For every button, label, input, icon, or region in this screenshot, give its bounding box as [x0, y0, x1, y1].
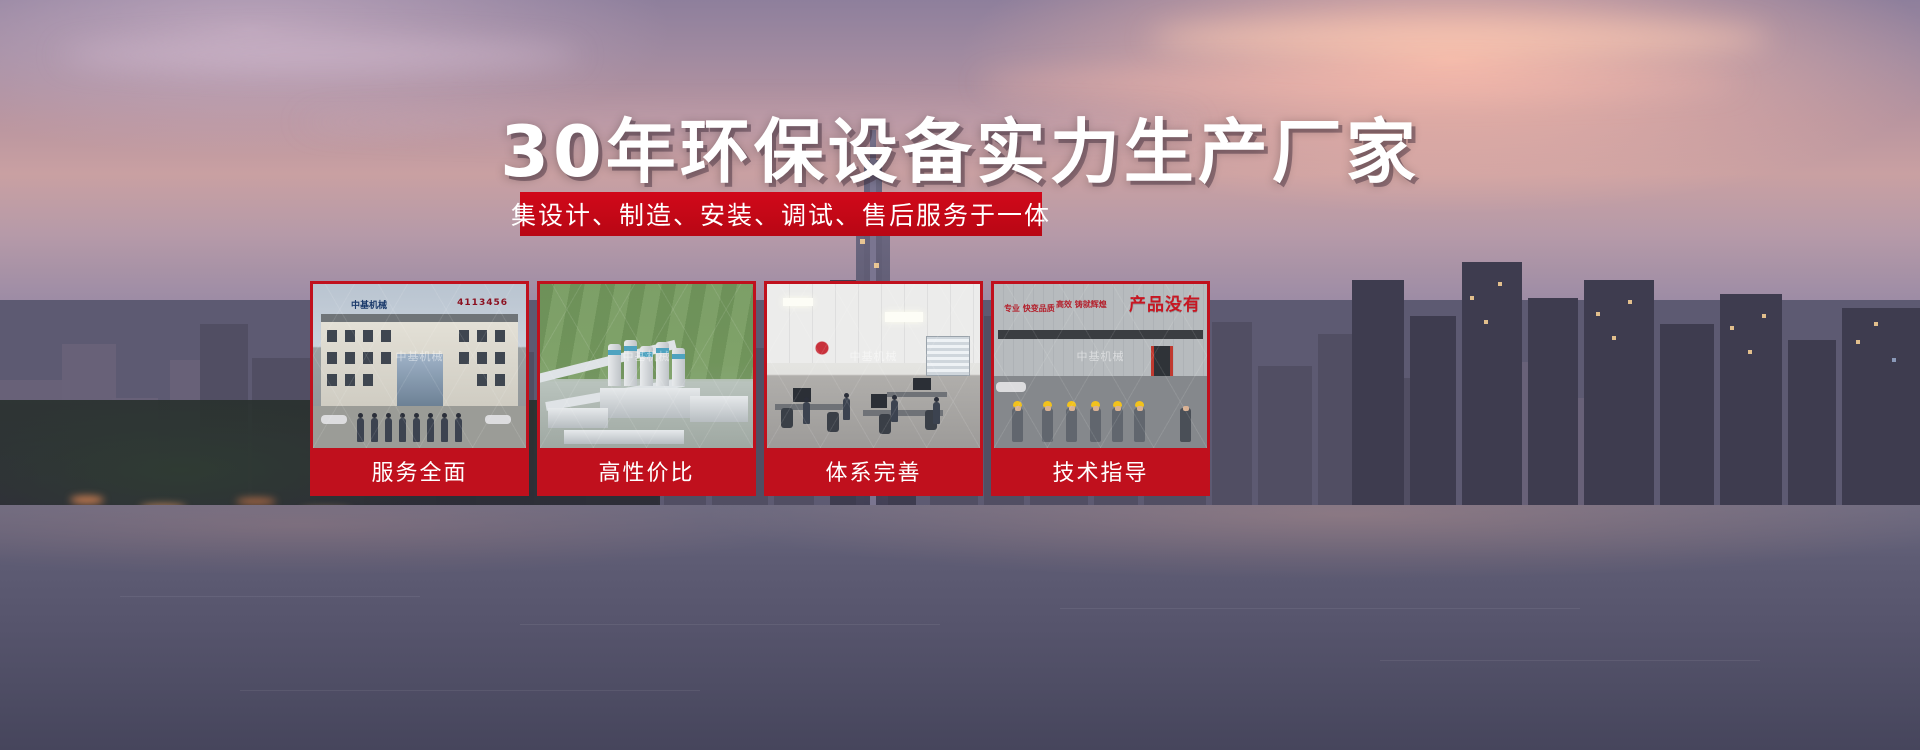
subtitle-badge: 集设计、制造、安装、调试、售后服务于一体 [520, 192, 1042, 236]
factory-slogan-1: 专业 快变品质 [1004, 304, 1055, 313]
card-caption: 体系完善 [767, 448, 980, 493]
page-title: 30年环保设备实力生产厂家 [0, 96, 1920, 197]
feature-card[interactable]: 中基机械 高性价比 [537, 281, 756, 496]
feature-card[interactable]: 中基机械 体系完善 [764, 281, 983, 496]
card-caption: 服务全面 [313, 448, 526, 493]
watermark-text: 中基机械 [623, 348, 671, 364]
card-photo: 中基机械 [540, 284, 753, 448]
watermark-text: 中基机械 [850, 348, 898, 364]
factory-banner-text: 产品没有 [1129, 290, 1201, 315]
feature-card-list: 中基机械 4113456 [310, 281, 1560, 496]
feature-card[interactable]: 产品没有 专业 快变品质 高效 铸就辉煌 中基机械 技术指导 [991, 281, 1210, 496]
card-caption: 高性价比 [540, 448, 753, 493]
hero-banner: 30年环保设备实力生产厂家 集设计、制造、安装、调试、售后服务于一体 中基机械 … [0, 0, 1920, 750]
card-photo: 中基机械 4113456 [313, 284, 526, 448]
watermark-text: 中基机械 [396, 348, 444, 364]
company-phone-text: 4113456 [457, 298, 508, 308]
water-reflection [0, 505, 1920, 625]
card-photo: 产品没有 专业 快变品质 高效 铸就辉煌 中基机械 [994, 284, 1207, 448]
feature-card[interactable]: 中基机械 4113456 [310, 281, 529, 496]
card-photo: 中基机械 [767, 284, 980, 448]
company-sign-text: 中基机械 [351, 298, 387, 311]
factory-slogan-2: 高效 铸就辉煌 [1056, 300, 1107, 309]
card-caption: 技术指导 [994, 448, 1207, 493]
watermark-text: 中基机械 [1077, 348, 1125, 364]
